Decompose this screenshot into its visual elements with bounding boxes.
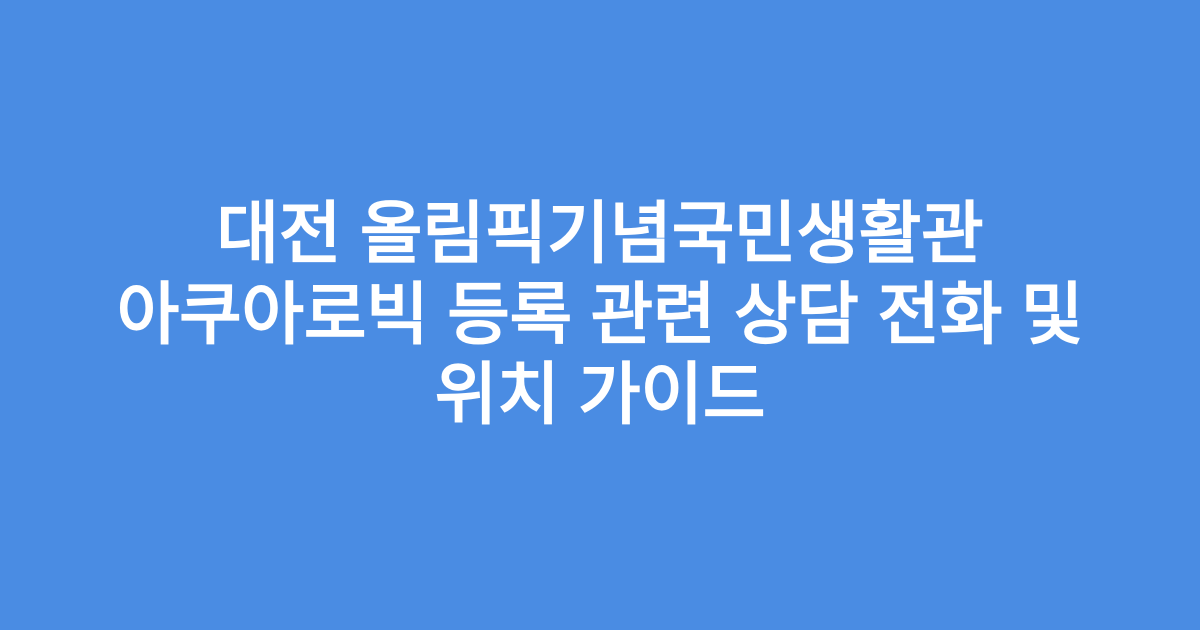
headline-block: 대전 올림픽기념국민생활관 아쿠아로빅 등록 관련 상담 전화 및 위치 가이드 — [40, 194, 1160, 437]
headline-line-3: 위치 가이드 — [60, 355, 1140, 436]
page-title: 대전 올림픽기념국민생활관 아쿠아로빅 등록 관련 상담 전화 및 위치 가이드 — [60, 194, 1140, 437]
share-card: 대전 올림픽기념국민생활관 아쿠아로빅 등록 관련 상담 전화 및 위치 가이드 — [0, 0, 1200, 630]
headline-line-1: 대전 올림픽기념국민생활관 — [60, 194, 1140, 275]
headline-line-2: 아쿠아로빅 등록 관련 상담 전화 및 — [60, 275, 1140, 356]
